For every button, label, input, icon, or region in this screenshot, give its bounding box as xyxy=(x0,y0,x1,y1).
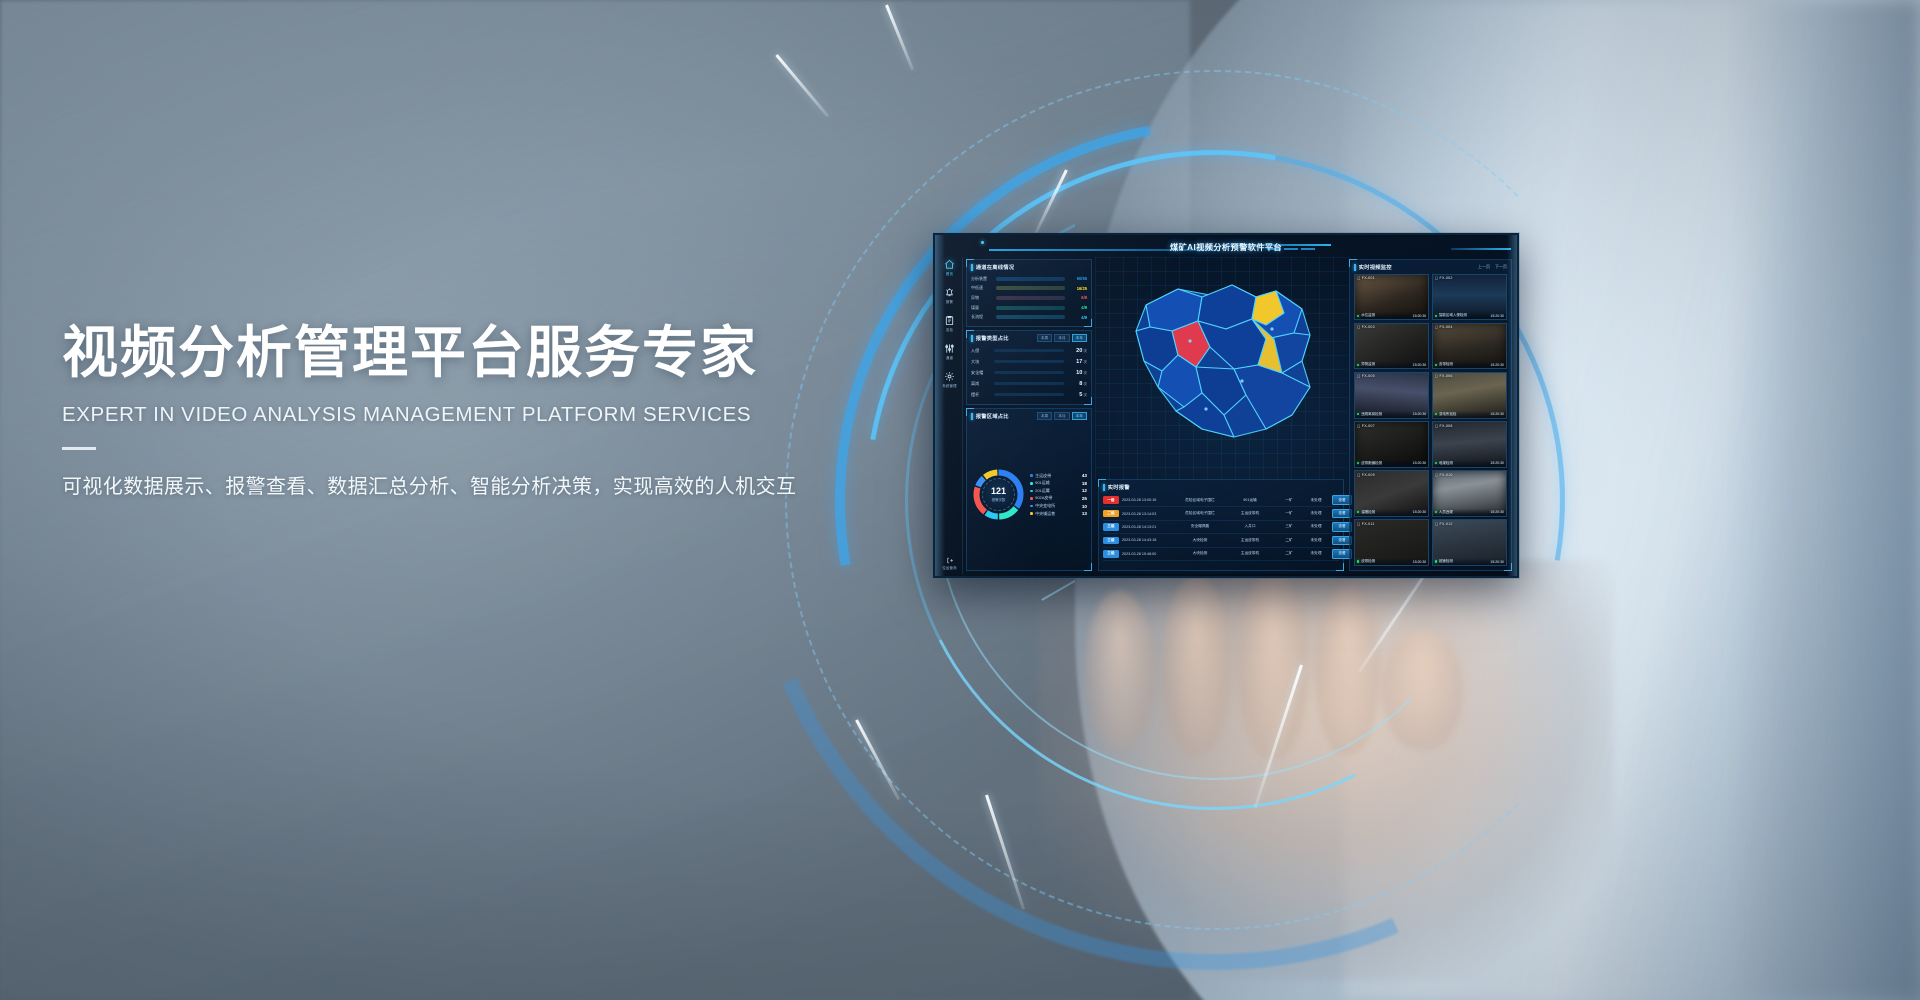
legend-label: 902A皮带 xyxy=(1035,495,1052,501)
alarm-type-label: 离岗 xyxy=(971,381,991,387)
clipboard-edit-icon xyxy=(944,315,955,326)
alarm-area: 主运皮带机 xyxy=(1228,538,1272,543)
alarm-type: 安全帽佩戴 xyxy=(1175,524,1225,529)
dashboard-title: 煤矿AI视频分析预警软件平台 xyxy=(1170,241,1282,253)
panel-tab-本年[interactable]: 本年 xyxy=(1072,412,1087,420)
screen-right-glow xyxy=(1507,235,1517,576)
camera-pager: 上一页 下一页 xyxy=(1478,264,1507,270)
alarm-table-row: 二级2023-03-28 13:14:03危险区域电子围栏主运皮带机低速列车摄像… xyxy=(1103,507,1339,520)
camera-footer: 变电所巡检15:20:30 xyxy=(1433,411,1506,418)
sidebar-item-alarm[interactable]: 报警 xyxy=(944,287,955,304)
camera-name: 异物监测 xyxy=(1361,362,1375,367)
sidebar-label-home: 首页 xyxy=(946,271,953,276)
area-panel-tabs: 本周本月本年 xyxy=(1037,412,1087,420)
legend-item: 901运输18 xyxy=(1030,480,1087,486)
alarm-area-donut-chart: 121 报警次数 xyxy=(971,467,1026,522)
channel-row-value: 50/65 xyxy=(1068,276,1087,281)
area-panel-title: 报警区域占比 xyxy=(976,412,1009,420)
camera-status-led xyxy=(1435,364,1437,366)
camera-footer: 异物监测15:20:30 xyxy=(1355,361,1428,368)
alarm-mine: 三矿 xyxy=(1278,524,1300,529)
alarm-type: 大块检测 xyxy=(1175,538,1225,543)
channel-row-value: 4/9 xyxy=(1068,315,1087,320)
realtime-alarm-panel: 实时报警 一级2023-03-28 13:00:16危险区域电子围栏901运输分… xyxy=(1098,479,1344,571)
channel-row-label: 中低速 xyxy=(971,285,993,291)
channel-rows: 分析装置50/65中低速16/25异物6/9煤量4/9长流程4/9 xyxy=(971,274,1087,322)
camera-name: 皮带检测 xyxy=(1361,559,1375,564)
legend-label: 中央变电所 xyxy=(1035,503,1055,509)
camera-footer: 堆煤检测15:20:30 xyxy=(1433,460,1506,467)
camera-id-label: ▢ FX-004 xyxy=(1435,325,1453,329)
alarm-mine: 二矿 xyxy=(1278,551,1300,556)
alarm-area: 主运皮带机 xyxy=(1228,551,1272,556)
camera-panel-header: 实时视频监控 上一页 下一页 xyxy=(1354,263,1507,271)
region-map[interactable] xyxy=(1095,257,1347,479)
camera-panel-title: 实时视频监控 xyxy=(1359,263,1392,271)
alarm-status: 未处理 xyxy=(1303,524,1329,529)
header-dot xyxy=(981,241,984,244)
camera-timestamp: 15:20:30 xyxy=(1490,314,1504,318)
camera-name: 溜槽检测 xyxy=(1361,510,1375,515)
camera-status-led xyxy=(1435,315,1437,317)
camera-id-label: ▢ FX-011 xyxy=(1357,522,1375,526)
type-rows: 入侵20次大块17次安全帽10次离岗8次摆杆5次 xyxy=(971,345,1087,400)
camera-footer: 人员违规15:20:30 xyxy=(1433,509,1506,516)
area-panel-header: 报警区域占比 本周本月本年 xyxy=(971,412,1087,420)
camera-status-led xyxy=(1357,315,1359,317)
alarm-type-panel: 报警类型占比 本周本月本年 入侵20次大块17次安全帽10次离岗8次摆杆5次 xyxy=(966,330,1092,405)
panel-tab-本月[interactable]: 本月 xyxy=(1054,412,1069,420)
camera-footer: 皮带跑偏检测15:20:30 xyxy=(1355,460,1428,467)
alarm-type-unit: 次 xyxy=(1083,360,1087,364)
legend-value: 13 xyxy=(1082,511,1087,516)
camera-timestamp: 15:20:30 xyxy=(1490,412,1504,416)
channel-row-label: 煤量 xyxy=(971,305,993,311)
alarm-bell-icon xyxy=(944,287,955,298)
channel-row: 中低速16/25 xyxy=(971,284,1087,294)
channel-status-panel: 通道在离线情况 分析装置50/65中低速16/25异物6/9煤量4/9长流程4/… xyxy=(966,259,1092,327)
camera-id-label: ▢ FX-012 xyxy=(1435,522,1453,526)
channel-row-label: 分析装置 xyxy=(971,276,993,282)
legend-item: 中央辅运巷13 xyxy=(1030,511,1087,517)
type-panel-header: 报警类型占比 本周本月本年 xyxy=(971,334,1087,342)
alarm-time: 2023-03-28 15:48:00 xyxy=(1122,552,1172,556)
sidebar-label-channel: 通道 xyxy=(946,355,953,360)
camera-tile[interactable]: ▢ FX-003异物监测15:20:30 xyxy=(1354,323,1429,370)
camera-id-label: ▢ FX-008 xyxy=(1435,424,1453,428)
legend-value: 18 xyxy=(1082,481,1087,486)
alarm-type-row: 入侵20次 xyxy=(971,345,1087,356)
channel-row: 分析装置50/65 xyxy=(971,274,1087,284)
channel-row-value: 6/9 xyxy=(1068,295,1087,300)
alarm-level-badge: 一级 xyxy=(1103,496,1119,504)
legend-value: 43 xyxy=(1082,473,1087,478)
hero-text-block: 视频分析管理平台服务专家 EXPERT IN VIDEO ANALYSIS MA… xyxy=(62,322,822,499)
hero-title: 视频分析管理平台服务专家 xyxy=(62,322,822,385)
donut-section: 121 报警次数 主运皮带43901运输18201运翼12902A皮带25中央变… xyxy=(971,423,1087,566)
donut-center: 121 报警次数 xyxy=(982,478,1015,511)
alarm-area: 入井口 xyxy=(1228,524,1272,529)
camera-name: 皮带检测 xyxy=(1439,362,1453,367)
camera-name: 水位监测 xyxy=(1361,313,1375,318)
camera-status-led xyxy=(1357,560,1359,562)
sliders-icon xyxy=(944,343,955,354)
camera-timestamp: 15:20:30 xyxy=(1413,314,1427,318)
alarm-type: 大块检测 xyxy=(1175,551,1225,556)
hero-description: 可视化数据展示、报警查看、数据汇总分析、智能分析决策，实现高效的人机交互 xyxy=(62,470,822,499)
legend-value: 25 xyxy=(1082,496,1087,501)
alarm-type-value: 20次 xyxy=(1067,348,1087,354)
home-icon xyxy=(944,259,955,270)
alarm-type-value: 17次 xyxy=(1067,359,1087,365)
left-column: 通道在离线情况 分析装置50/65中低速16/25异物6/9煤量4/9长流程4/… xyxy=(963,257,1095,574)
camera-footer: 超速检测15:20:30 xyxy=(1433,558,1506,565)
channel-row-track xyxy=(996,296,1065,300)
legend-label: 主运皮带 xyxy=(1035,473,1051,479)
camera-footer: 皮带检测15:20:30 xyxy=(1433,361,1506,368)
camera-timestamp: 15:20:30 xyxy=(1413,363,1427,367)
camera-id-label: ▢ FX-009 xyxy=(1357,473,1375,477)
channel-row-track xyxy=(996,286,1065,290)
camera-name: 人员违规 xyxy=(1439,510,1453,515)
channel-row-track xyxy=(996,315,1065,319)
camera-status-led xyxy=(1357,413,1359,415)
alarm-type: 危险区域电子围栏 xyxy=(1175,511,1225,516)
alarm-table-row: 一级2023-03-28 13:00:16危险区域电子围栏901运输分析装置一矿… xyxy=(1103,494,1339,507)
camera-timestamp: 15:20:30 xyxy=(1413,412,1427,416)
alarm-time: 2023-03-28 13:00:16 xyxy=(1122,498,1172,502)
right-column: 实时视频监控 上一页 下一页 ▢ FX-001水位监测15:20:30▢ FX-… xyxy=(1347,257,1515,574)
camera-id-label: ▢ FX-007 xyxy=(1357,424,1375,428)
alarm-type-row: 离岗8次 xyxy=(971,378,1087,389)
alarm-table-row: 三级2023-03-28 14:43:18大块检测主运皮带机高清枪型摄像仪二矿未… xyxy=(1103,534,1339,547)
channel-row-track xyxy=(996,306,1065,310)
camera-prev-page-button[interactable]: 上一页 xyxy=(1478,264,1490,270)
alarm-status: 未处理 xyxy=(1303,511,1329,516)
camera-timestamp: 15:20:30 xyxy=(1413,560,1427,564)
camera-id-label: ▢ FX-002 xyxy=(1435,276,1453,280)
alarm-table-row: 三级2023-03-28 14:13:21安全帽佩戴入井口低照度枪型摄像仪三矿未… xyxy=(1103,521,1339,534)
camera-tile[interactable]: ▢ FX-009溜槽检测15:20:30 xyxy=(1354,470,1429,517)
legend-color-dot xyxy=(1030,497,1033,500)
legend-item: 902A皮带25 xyxy=(1030,495,1087,501)
camera-tile[interactable]: ▢ FX-011皮带检测15:20:30 xyxy=(1354,519,1429,566)
panel-accent-bar xyxy=(1103,484,1105,491)
sidebar-label-alarm: 报警 xyxy=(946,299,953,304)
alarm-panel-title: 实时报警 xyxy=(1108,483,1130,491)
camera-status-led xyxy=(1435,560,1437,562)
alarm-type-label: 入侵 xyxy=(971,348,991,354)
camera-footer: 水位监测15:20:30 xyxy=(1355,312,1428,319)
hero-divider xyxy=(62,447,96,450)
camera-tile[interactable]: ▢ FX-001水位监测15:20:30 xyxy=(1354,274,1429,321)
camera-timestamp: 15:20:30 xyxy=(1413,510,1427,514)
legend-value: 10 xyxy=(1082,504,1087,509)
alarm-type-unit: 次 xyxy=(1083,393,1087,397)
map-regions-svg xyxy=(1106,269,1336,459)
camera-tile[interactable]: ▢ FX-006变电所巡检15:20:30 xyxy=(1432,372,1507,419)
camera-tile[interactable]: ▢ FX-002智能区域入侵检测15:20:30 xyxy=(1432,274,1507,321)
camera-status-led xyxy=(1435,413,1437,415)
alarm-level-badge: 三级 xyxy=(1103,550,1119,558)
camera-name: 堆煤检测 xyxy=(1439,461,1453,466)
camera-id-label: ▢ FX-005 xyxy=(1357,374,1375,378)
type-panel-tabs: 本周本月本年 xyxy=(1037,334,1087,342)
panel-tab-本周[interactable]: 本周 xyxy=(1037,334,1052,342)
sidebar-label-inspection: 巡检 xyxy=(946,327,953,332)
alarm-type-track xyxy=(994,349,1064,353)
alarm-type-row: 安全帽10次 xyxy=(971,367,1087,378)
alarm-type-track xyxy=(994,393,1064,397)
camera-timestamp: 15:20:30 xyxy=(1490,363,1504,367)
channel-row: 煤量4/9 xyxy=(971,303,1087,313)
panel-accent-bar xyxy=(971,413,973,420)
panel-accent-bar xyxy=(971,335,973,342)
camera-grid: ▢ FX-001水位监测15:20:30▢ FX-002智能区域入侵检测15:2… xyxy=(1354,274,1507,567)
alarm-mine: 二矿 xyxy=(1278,538,1300,543)
alarm-type-value: 8次 xyxy=(1067,381,1087,387)
dashboard-body: 首页 报警 巡检 通道 xyxy=(937,257,1515,574)
camera-name: 皮带跑偏检测 xyxy=(1361,461,1382,466)
camera-timestamp: 15:20:30 xyxy=(1490,461,1504,465)
donut-total-value: 121 xyxy=(991,487,1006,496)
alarm-type-value: 10次 xyxy=(1067,370,1087,376)
alarm-time: 2023-03-28 13:14:03 xyxy=(1122,512,1172,516)
alarm-mine: 一矿 xyxy=(1278,498,1300,503)
alarm-area-panel: 报警区域占比 本周本月本年 121 报警次数 主运皮带43901运输18201运… xyxy=(966,408,1092,571)
alarm-status: 未处理 xyxy=(1303,551,1329,556)
dashboard-root: 煤矿AI视频分析预警软件平台 首页 报警 xyxy=(937,237,1515,574)
camera-tile[interactable]: ▢ FX-012超速检测15:20:30 xyxy=(1432,519,1507,566)
alarm-status: 未处理 xyxy=(1303,498,1329,503)
sidebar-item-inspection[interactable]: 巡检 xyxy=(944,315,955,332)
channel-row-label: 异物 xyxy=(971,295,993,301)
alarm-time: 2023-03-28 14:13:21 xyxy=(1122,525,1172,529)
camera-tile[interactable]: ▢ FX-007皮带跑偏检测15:20:30 xyxy=(1354,421,1429,468)
camera-status-led xyxy=(1435,462,1437,464)
alarm-level-badge: 三级 xyxy=(1103,523,1119,531)
alarm-type-track xyxy=(994,382,1064,386)
camera-name: 变电所巡检 xyxy=(1439,412,1457,417)
camera-name: 违规离岗检测 xyxy=(1361,412,1382,417)
legend-value: 12 xyxy=(1082,488,1087,493)
legend-color-dot xyxy=(1030,474,1033,477)
panel-tab-本年[interactable]: 本年 xyxy=(1072,334,1087,342)
camera-tile[interactable]: ▢ FX-004皮带检测15:20:30 xyxy=(1432,323,1507,370)
channel-row-label: 长流程 xyxy=(971,314,993,320)
alarm-type-label: 安全帽 xyxy=(971,370,991,376)
alarm-table-row: 三级2023-03-28 15:48:00大块检测主运皮带机高清枪型摄像仪二矿未… xyxy=(1103,548,1339,561)
sidebar-item-home[interactable]: 首页 xyxy=(944,259,955,276)
channel-panel-title: 通道在离线情况 xyxy=(976,263,1014,271)
camera-timestamp: 15:20:30 xyxy=(1490,510,1504,514)
type-panel-title: 报警类型占比 xyxy=(976,334,1009,342)
camera-footer: 皮带检测15:20:30 xyxy=(1355,558,1428,565)
alarm-type-row: 摆杆5次 xyxy=(971,389,1087,400)
camera-tile[interactable]: ▢ FX-008堆煤检测15:20:30 xyxy=(1432,421,1507,468)
alarm-type-unit: 次 xyxy=(1083,371,1087,375)
alarm-type-row: 大块17次 xyxy=(971,356,1087,367)
donut-caption: 报警次数 xyxy=(992,497,1006,502)
camera-tile[interactable]: ▢ FX-005违规离岗检测15:20:30 xyxy=(1354,372,1429,419)
camera-footer: 智能区域入侵检测15:20:30 xyxy=(1433,312,1506,319)
camera-status-led xyxy=(1357,364,1359,366)
alarm-level-badge: 二级 xyxy=(1103,510,1119,518)
legend-color-dot xyxy=(1030,490,1033,493)
camera-status-led xyxy=(1357,462,1359,464)
channel-panel-header: 通道在离线情况 xyxy=(971,263,1087,271)
hero-subtitle: EXPERT IN VIDEO ANALYSIS MANAGEMENT PLAT… xyxy=(62,403,822,427)
dashboard-header: 煤矿AI视频分析预警软件平台 xyxy=(937,237,1515,257)
exit-icon xyxy=(946,557,953,564)
camera-panel: 实时视频监控 上一页 下一页 ▢ FX-001水位监测15:20:30▢ FX-… xyxy=(1349,259,1512,571)
channel-row-value: 16/25 xyxy=(1068,286,1087,291)
camera-id-label: ▢ FX-003 xyxy=(1357,325,1375,329)
alarm-type-label: 大块 xyxy=(971,359,991,365)
screen-left-glow xyxy=(935,235,945,576)
legend-item: 中央变电所10 xyxy=(1030,503,1087,509)
legend-color-dot xyxy=(1030,512,1033,515)
camera-footer: 违规离岗检测15:20:30 xyxy=(1355,411,1428,418)
camera-status-led xyxy=(1357,511,1359,513)
alarm-type-unit: 次 xyxy=(1083,349,1087,353)
panel-tab-本月[interactable]: 本月 xyxy=(1054,334,1069,342)
donut-legend: 主运皮带43901运输18201运翼12902A皮带25中央变电所10中央辅运巷… xyxy=(1030,473,1087,517)
camera-name: 智能区域入侵检测 xyxy=(1439,313,1467,318)
legend-color-dot xyxy=(1030,505,1033,508)
camera-id-label: ▢ FX-001 xyxy=(1357,276,1375,280)
alarm-mine: 一矿 xyxy=(1278,511,1300,516)
channel-row-value: 4/9 xyxy=(1068,305,1087,310)
alarm-type-value: 5次 xyxy=(1067,392,1087,398)
camera-id-label: ▢ FX-010 xyxy=(1435,473,1453,477)
channel-row: 异物6/9 xyxy=(971,293,1087,303)
alarm-type-label: 摆杆 xyxy=(971,392,991,398)
alarm-table: 一级2023-03-28 13:00:16危险区域电子围栏901运输分析装置一矿… xyxy=(1103,494,1339,561)
legend-item: 主运皮带43 xyxy=(1030,473,1087,479)
legend-label: 901运输 xyxy=(1035,480,1050,486)
alarm-time: 2023-03-28 14:43:18 xyxy=(1122,538,1172,542)
alarm-type-track xyxy=(994,360,1064,364)
camera-name: 超速检测 xyxy=(1439,559,1453,564)
center-column: 实时报警 一级2023-03-28 13:00:16危险区域电子围栏901运输分… xyxy=(1095,257,1347,574)
camera-timestamp: 15:20:30 xyxy=(1490,560,1504,564)
legend-label: 中央辅运巷 xyxy=(1035,511,1055,517)
legend-item: 201运翼12 xyxy=(1030,488,1087,494)
camera-timestamp: 15:20:30 xyxy=(1413,461,1427,465)
dashboard-screen: 煤矿AI视频分析预警软件平台 首页 报警 xyxy=(933,233,1519,578)
legend-label: 201运翼 xyxy=(1035,488,1050,494)
legend-color-dot xyxy=(1030,482,1033,485)
camera-footer: 溜槽检测15:20:30 xyxy=(1355,509,1428,516)
channel-row-track xyxy=(996,277,1065,281)
channel-row: 长流程4/9 xyxy=(971,312,1087,322)
alarm-level-badge: 三级 xyxy=(1103,537,1119,545)
panel-tab-本周[interactable]: 本周 xyxy=(1037,412,1052,420)
alarm-area: 901运输 xyxy=(1228,498,1272,503)
panel-accent-bar xyxy=(1354,264,1356,271)
camera-next-page-button[interactable]: 下一页 xyxy=(1495,264,1507,270)
camera-id-label: ▢ FX-006 xyxy=(1435,374,1453,378)
alarm-type-unit: 次 xyxy=(1083,382,1087,386)
sidebar-item-channel[interactable]: 通道 xyxy=(944,343,955,360)
alarm-panel-header: 实时报警 xyxy=(1103,483,1339,491)
alarm-type-track xyxy=(994,371,1064,375)
header-line-right xyxy=(1451,248,1511,250)
alarm-type: 危险区域电子围栏 xyxy=(1175,498,1225,503)
alarm-area: 主运皮带机 xyxy=(1228,511,1272,516)
panel-accent-bar xyxy=(971,264,973,271)
camera-tile[interactable]: ▢ FX-010人员违规15:20:30 xyxy=(1432,470,1507,517)
camera-status-led xyxy=(1435,511,1437,513)
gear-icon xyxy=(944,371,955,382)
alarm-status: 未处理 xyxy=(1303,538,1329,543)
